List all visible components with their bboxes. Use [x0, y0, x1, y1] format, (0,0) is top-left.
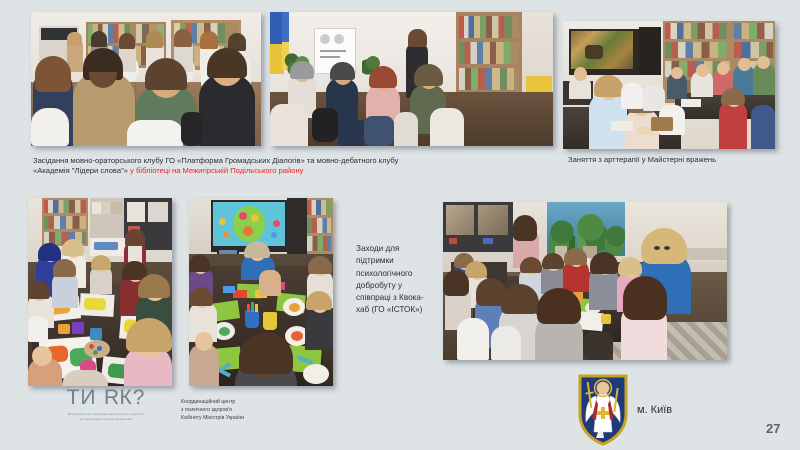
caption-top-right: Заняття з арттерапії у Майстерні вражень [568, 155, 798, 165]
caption-top-left-line2-highlight: у бібліотеці на Межигірській Подільськог… [130, 166, 303, 175]
logo-ty-yak-before: ТИ [67, 386, 104, 409]
logo-ty-yak-reversed-ya: Я [103, 386, 119, 410]
caption-middle: Заходи для підтримки психологічного добр… [356, 243, 428, 317]
photo-kids-painting-table [28, 198, 172, 386]
slide-canvas: Засідання мовно-ораторського клубу ГО «П… [0, 0, 800, 450]
caption-top-left-line2: «Академія "Лідери слова"» у бібліотеці н… [33, 166, 563, 176]
photo-speaking-club-circle [31, 12, 261, 146]
photo-kvoka-hub-workshop [443, 202, 727, 360]
coordination-center-line1: Координаційний центр [181, 398, 301, 406]
kyiv-emblem-group: м. Київ [578, 374, 672, 446]
caption-top-left-line2-plain: «Академія "Лідери слова"» [33, 166, 130, 175]
caption-top-left: Засідання мовно-ораторського клубу ГО «П… [33, 156, 563, 175]
logo-ty-yak-after: К? [120, 386, 146, 409]
coordination-center-line3: Кабінету Міністрів України [181, 414, 301, 422]
logo-coordination-center: Координаційний центр з психічного здоров… [181, 398, 301, 422]
photo-art-therapy-library [563, 21, 775, 149]
kyiv-city-label: м. Київ [637, 404, 672, 416]
logo-ty-yak: ТИ ЯК? Всеукраїнська програма ментальног… [44, 386, 168, 421]
kyiv-coat-of-arms-icon [578, 374, 628, 446]
photo-kids-crafts-table [189, 198, 333, 386]
page-number: 27 [766, 421, 780, 436]
coordination-center-line2: з психічного здоров'я [181, 406, 301, 414]
photo-debate-club-room [270, 12, 553, 146]
logo-ty-yak-wordmark: ТИ ЯК? [44, 386, 168, 410]
logo-ty-yak-tagline-line2: за ініціативою Олени Зеленської [44, 417, 168, 422]
caption-top-left-line1: Засідання мовно-ораторського клубу ГО «П… [33, 156, 563, 166]
